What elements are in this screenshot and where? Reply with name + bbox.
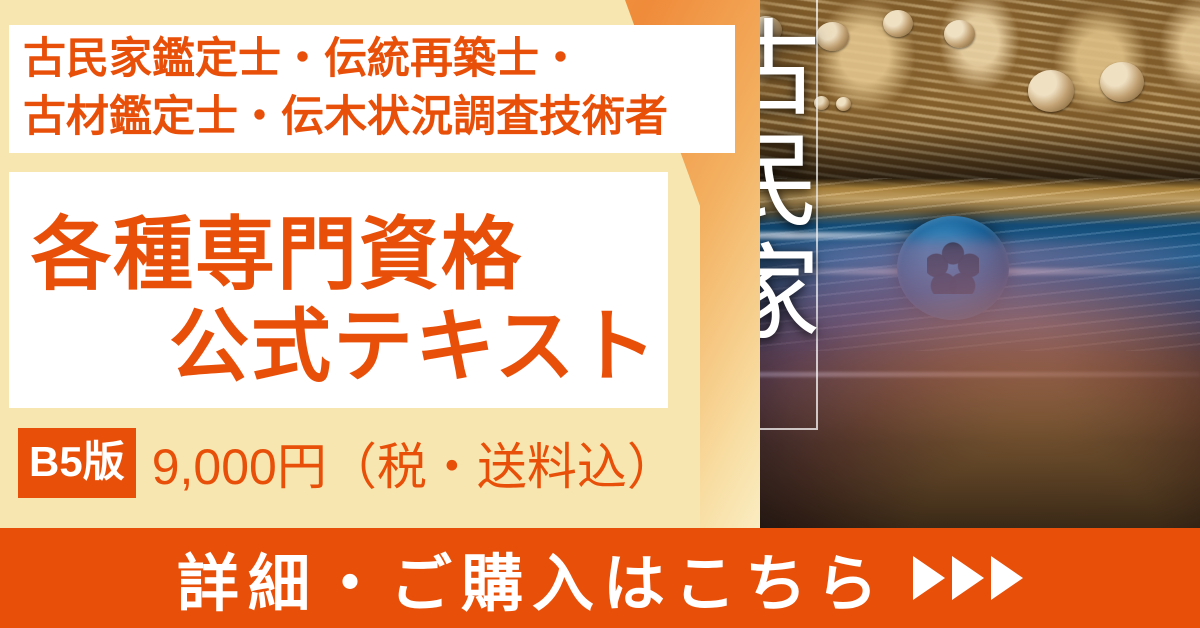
qualifications-text: 古民家鑑定士・伝統再築士・ 古材鑑定士・伝木状況調査技術者 bbox=[9, 31, 668, 146]
qualifications-card: 古民家鑑定士・伝統再築士・ 古材鑑定士・伝木状況調査技術者 bbox=[9, 25, 735, 153]
headline-card: 各種専門資格 公式テキスト bbox=[9, 172, 668, 408]
format-badge: B5版 bbox=[18, 428, 136, 498]
wood-knob-icon bbox=[944, 20, 975, 48]
wood-knob-icon bbox=[1100, 62, 1144, 102]
headline-line-2: 公式テキスト bbox=[169, 282, 659, 398]
wood-knob-icon bbox=[836, 97, 851, 111]
wood-knob-icon bbox=[883, 10, 913, 37]
cta-bar[interactable]: 詳細・ご購入はこちら bbox=[0, 528, 1200, 628]
qualifications-line-2: 古材鑑定士・伝木状況調査技術者 bbox=[23, 89, 668, 147]
price-amount: 9,000円（税・送料込） bbox=[152, 427, 677, 499]
wood-knob-icon bbox=[816, 22, 849, 51]
cta-label: 詳細・ご購入はこちら bbox=[177, 533, 887, 623]
price-row: B5版 9,000円（税・送料込） bbox=[18, 427, 677, 499]
wood-knob-icon bbox=[1028, 70, 1074, 112]
chevron-right-icon bbox=[952, 556, 984, 600]
chevron-right-icon bbox=[913, 556, 945, 600]
promo-banner: 古民家 伝統構法、古民家活用のための調査と再生の 古民家鑑定士・伝統再築士・ 古… bbox=[0, 0, 1200, 628]
chevron-right-icon bbox=[991, 556, 1023, 600]
cta-arrows bbox=[913, 556, 1023, 600]
qualifications-line-1: 古民家鑑定士・伝統再築士・ bbox=[23, 31, 668, 89]
